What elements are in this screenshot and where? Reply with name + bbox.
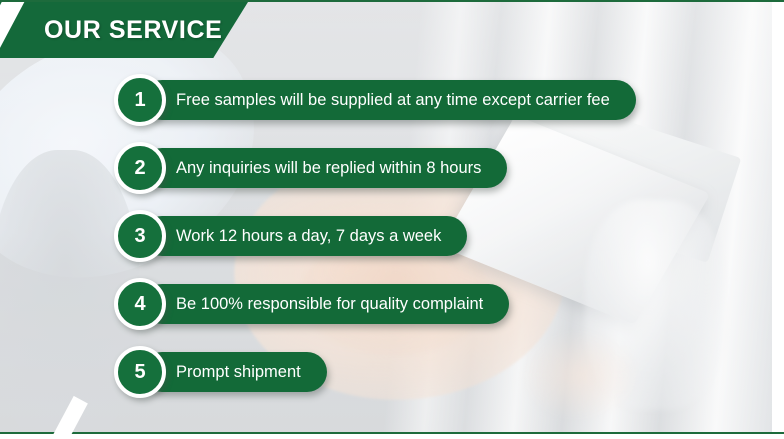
service-text: Any inquiries will be replied within 8 h… xyxy=(142,148,507,188)
service-number-badge: 2 xyxy=(114,142,166,194)
list-item: 5 Prompt shipment xyxy=(114,346,636,398)
service-text: Free samples will be supplied at any tim… xyxy=(142,80,636,120)
bottom-border-line xyxy=(0,432,784,434)
page-title: OUR SERVICE xyxy=(44,2,222,58)
banner-diagonal-slash-icon xyxy=(0,0,28,53)
service-number-badge: 4 xyxy=(114,278,166,330)
service-banner-graphic: OUR SERVICE 1 Free samples will be suppl… xyxy=(0,0,784,439)
list-item: 2 Any inquiries will be replied within 8… xyxy=(114,142,636,194)
service-text: Work 12 hours a day, 7 days a week xyxy=(142,216,467,256)
service-number-badge: 3 xyxy=(114,210,166,262)
list-item: 1 Free samples will be supplied at any t… xyxy=(114,74,636,126)
service-text: Prompt shipment xyxy=(142,352,327,392)
service-number-badge: 5 xyxy=(114,346,166,398)
list-item: 3 Work 12 hours a day, 7 days a week xyxy=(114,210,636,262)
service-list: 1 Free samples will be supplied at any t… xyxy=(114,74,636,398)
list-item: 4 Be 100% responsible for quality compla… xyxy=(114,278,636,330)
service-number-badge: 1 xyxy=(114,74,166,126)
service-text: Be 100% responsible for quality complain… xyxy=(142,284,509,324)
